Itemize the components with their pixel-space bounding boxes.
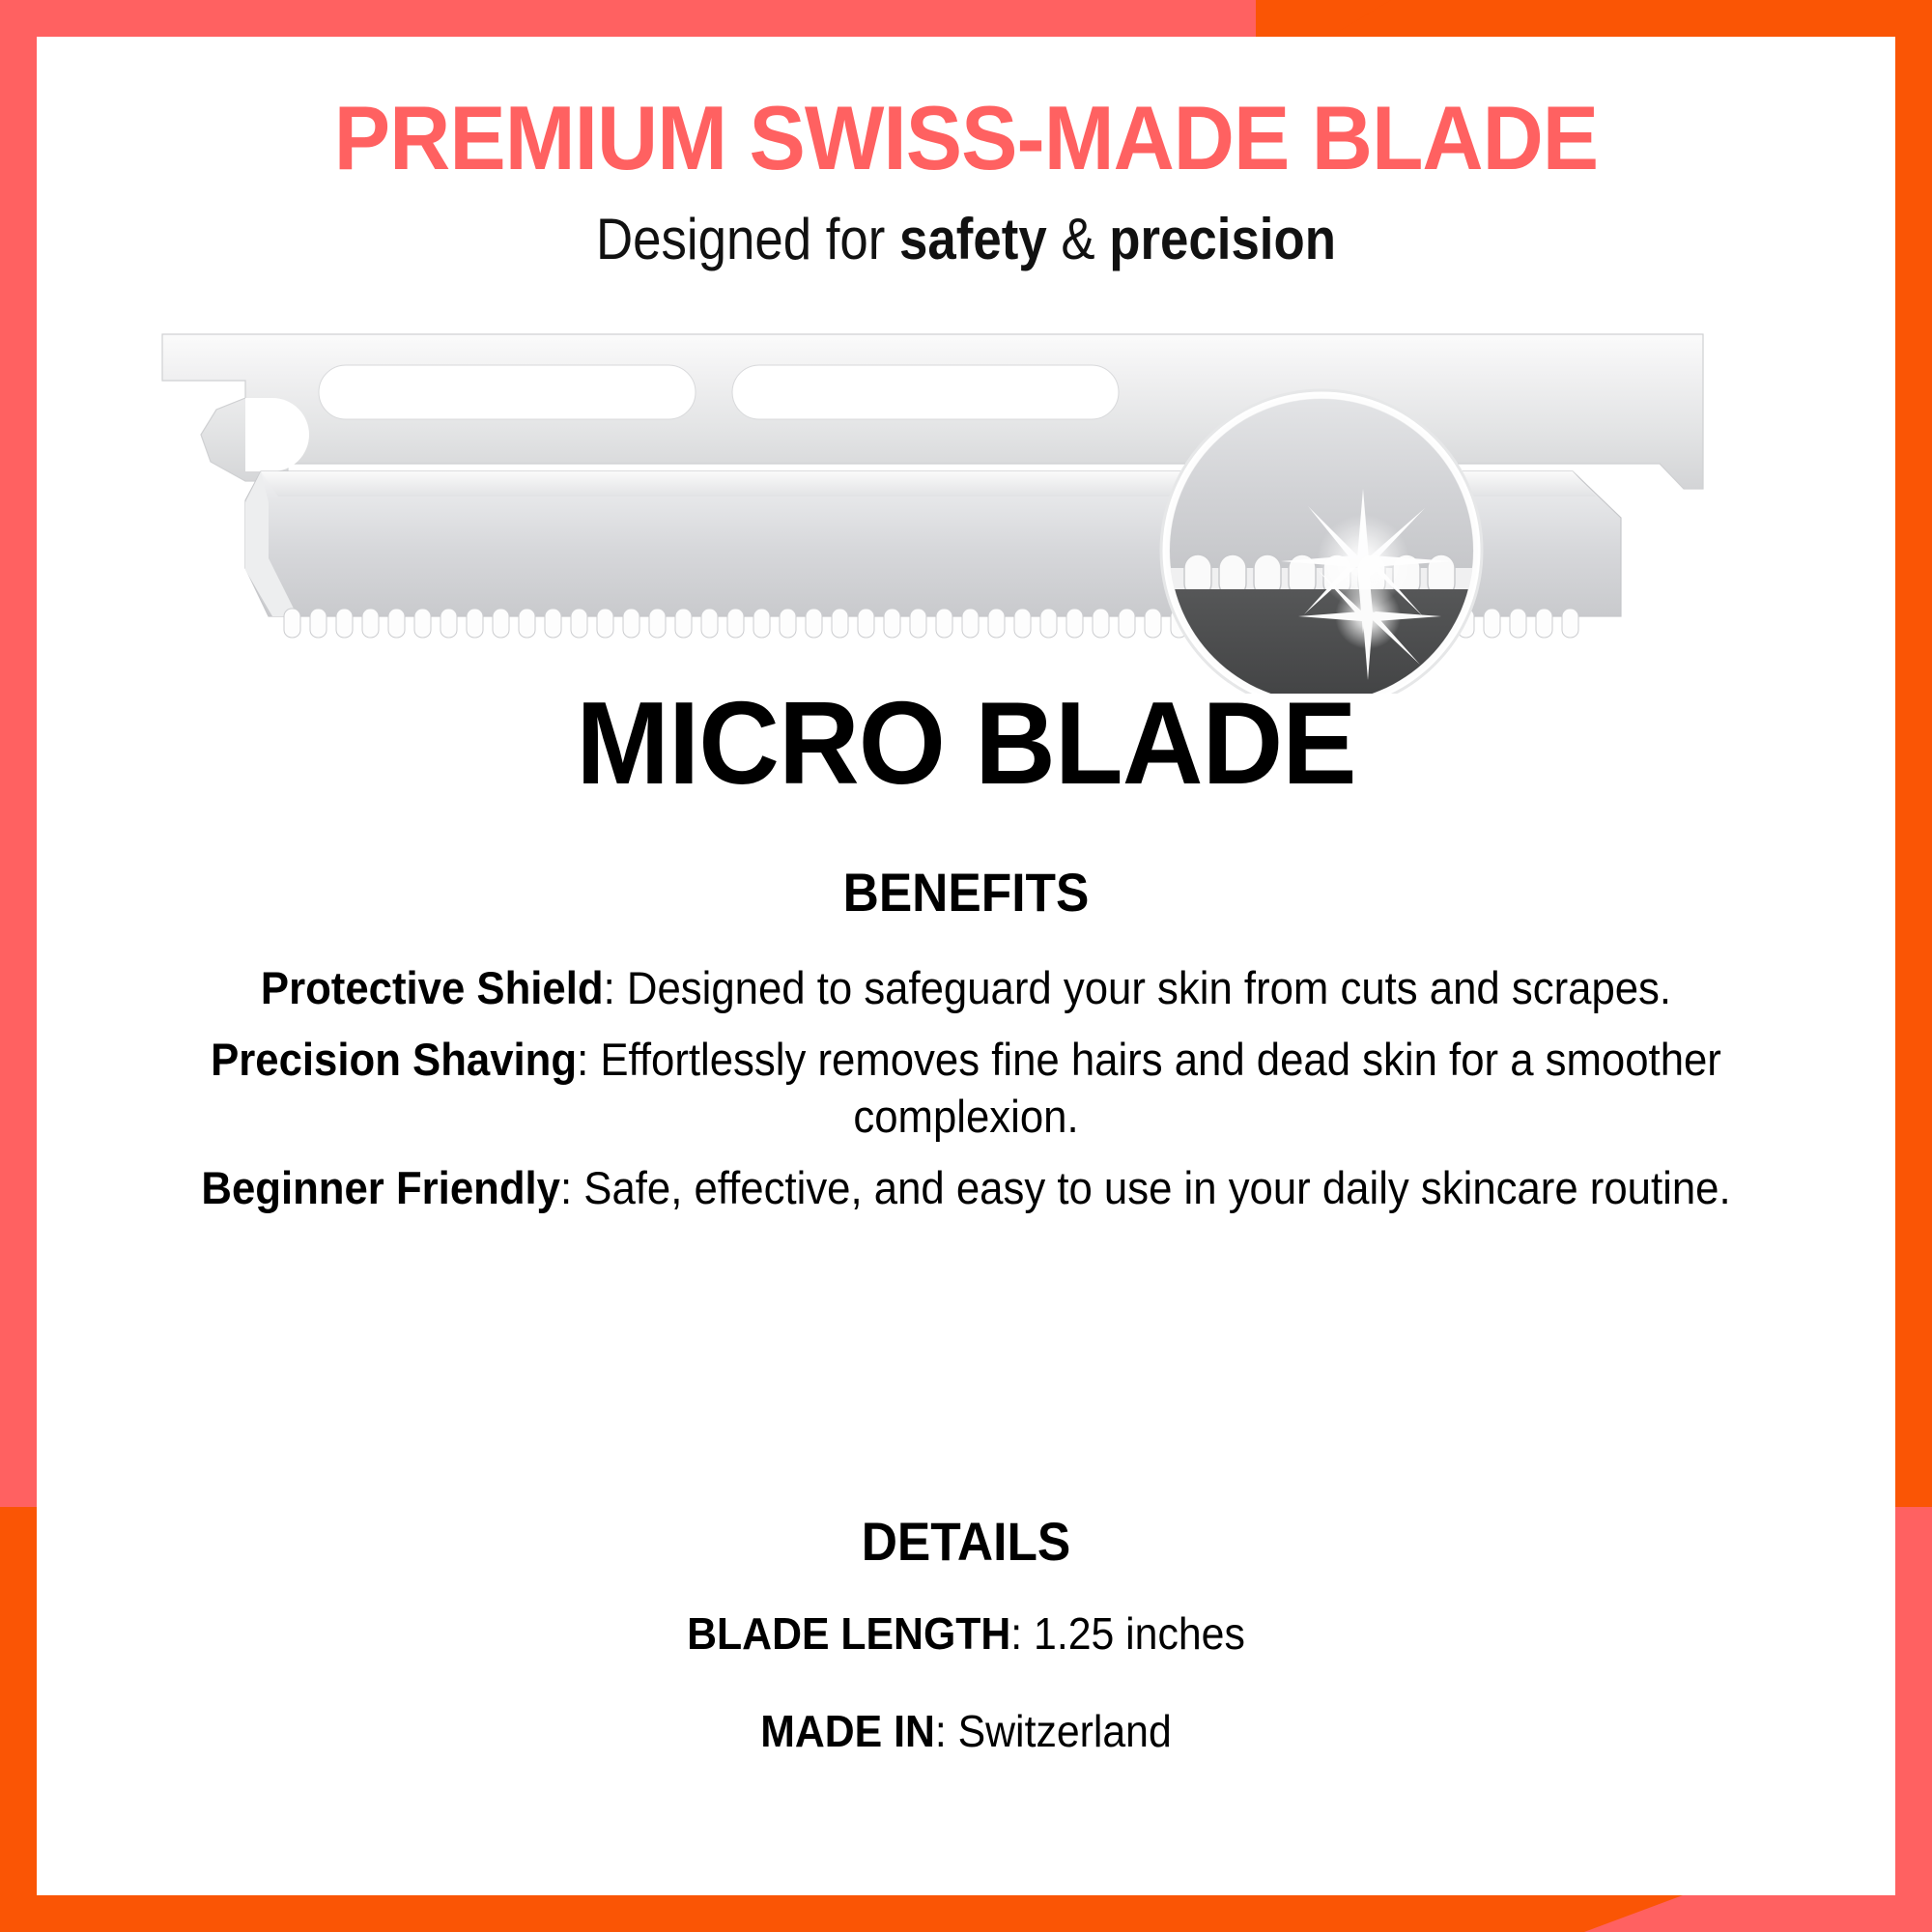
- page-headline: PREMIUM SWISS-MADE BLADE: [101, 93, 1830, 184]
- benefit-label: Protective Shield: [261, 962, 604, 1013]
- detail-label: BLADE LENGTH: [687, 1608, 1010, 1659]
- details-section: DETAILS BLADE LENGTH: 1.25 inches MADE I…: [56, 1515, 1876, 1803]
- subtitle-middle: &: [1047, 207, 1110, 271]
- product-title: MICRO BLADE: [83, 684, 1849, 802]
- benefit-item-protective-shield: Protective Shield: Designed to safeguard…: [120, 960, 1812, 1016]
- page-subtitle: Designed for safety & precision: [148, 211, 1783, 269]
- benefit-text: Safe, effective, and easy to use in your…: [583, 1162, 1730, 1213]
- blade-product-image: [153, 327, 1785, 694]
- benefits-list: Protective Shield: Designed to safeguard…: [56, 960, 1876, 1216]
- detail-value: 1.25 inches: [1034, 1608, 1245, 1659]
- subtitle-bold-precision: precision: [1109, 207, 1336, 271]
- detail-separator: :: [935, 1706, 958, 1756]
- detail-label: MADE IN: [760, 1706, 935, 1756]
- benefits-heading: BENEFITS: [128, 866, 1803, 920]
- benefit-text: Effortlessly removes fine hairs and dead…: [600, 1034, 1720, 1141]
- blade-upper-plate: [162, 334, 1703, 489]
- benefit-label: Precision Shaving: [211, 1034, 577, 1085]
- benefits-section: BENEFITS Protective Shield: Designed to …: [56, 866, 1876, 1232]
- benefit-separator: :: [577, 1034, 600, 1085]
- benefit-item-precision-shaving: Precision Shaving: Effortlessly removes …: [120, 1032, 1812, 1145]
- benefit-label: Beginner Friendly: [201, 1162, 560, 1213]
- benefit-text: Designed to safeguard your skin from cut…: [627, 962, 1671, 1013]
- subtitle-bold-safety: safety: [899, 207, 1047, 271]
- subtitle-lead: Designed for: [596, 207, 899, 271]
- details-heading: DETAILS: [128, 1515, 1803, 1569]
- benefit-item-beginner-friendly: Beginner Friendly: Safe, effective, and …: [120, 1160, 1812, 1216]
- detail-value: Switzerland: [958, 1706, 1172, 1756]
- benefit-separator: :: [560, 1162, 583, 1213]
- detail-separator: :: [1010, 1608, 1034, 1659]
- content-card: PREMIUM SWISS-MADE BLADE Designed for sa…: [37, 37, 1895, 1895]
- detail-item-made-in: MADE IN: Switzerland: [120, 1705, 1812, 1758]
- details-list: BLADE LENGTH: 1.25 inches MADE IN: Switz…: [56, 1607, 1876, 1758]
- benefit-separator: :: [604, 962, 627, 1013]
- infographic-root: PREMIUM SWISS-MADE BLADE Designed for sa…: [0, 0, 1932, 1932]
- detail-item-blade-length: BLADE LENGTH: 1.25 inches: [120, 1607, 1812, 1661]
